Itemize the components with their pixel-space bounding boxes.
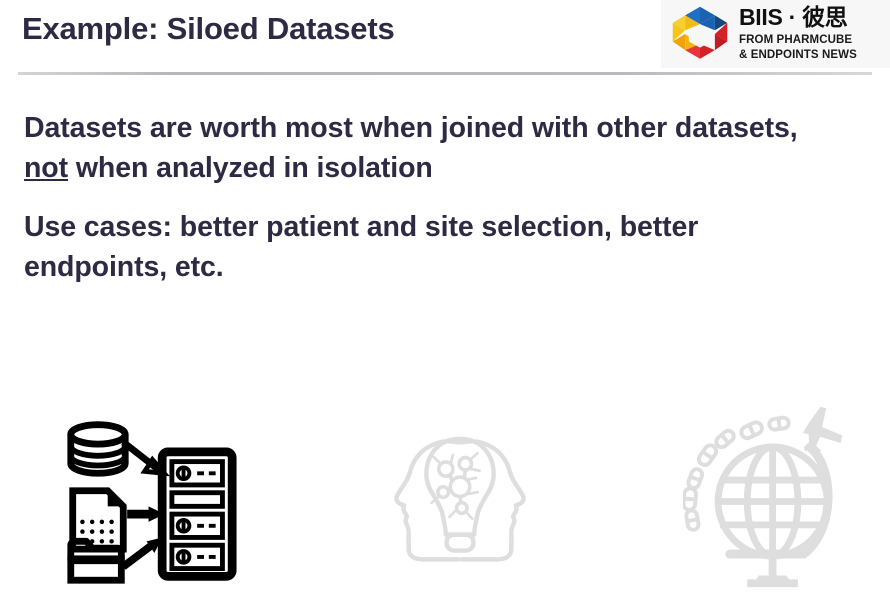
body-content: Datasets are worth most when joined with… xyxy=(24,108,844,288)
brand-logo-text: BIIS · 彼思 FROM PHARMCUBE & ENDPOINTS NEW… xyxy=(739,6,857,62)
bullet-value-of-joined-data: Datasets are worth most when joined with… xyxy=(24,108,844,189)
global-globe-pills-airplane-icon xyxy=(683,406,868,596)
bullet-1-text-after: when analyzed in isolation xyxy=(68,152,433,184)
brand-tagline: FROM PHARMCUBE & ENDPOINTS NEWS xyxy=(739,33,857,62)
bullet-1-emphasis: not xyxy=(24,152,68,184)
airplane-icon xyxy=(799,406,847,458)
server-rack-icon xyxy=(162,452,232,576)
two-heads-lightbulb-idea-icon xyxy=(380,423,540,578)
lightbulb-icon xyxy=(426,439,493,535)
brand-name: BIIS · 彼思 xyxy=(739,6,857,29)
bullet-1-text-before: Datasets are worth most when joined with… xyxy=(24,112,798,144)
data-sources-to-server-icon xyxy=(63,413,238,588)
biis-hexagon-cube-logo-icon xyxy=(669,3,731,65)
illustration-row xyxy=(0,400,890,601)
page-title: Example: Siloed Datasets xyxy=(22,10,395,47)
brand-logo: BIIS · 彼思 FROM PHARMCUBE & ENDPOINTS NEW… xyxy=(661,0,890,68)
database-cylinder-icon xyxy=(70,425,124,474)
brand-tagline-line-2: & ENDPOINTS NEWS xyxy=(739,48,857,62)
slide-canvas: Example: Siloed Datasets xyxy=(0,0,890,601)
bullet-use-cases: Use cases: better patient and site selec… xyxy=(24,207,844,288)
title-divider xyxy=(18,72,872,75)
icon-slot-data-integration xyxy=(40,400,260,601)
bullet-2-text: Use cases: better patient and site selec… xyxy=(24,211,698,283)
brand-tagline-line-1: FROM PHARMCUBE xyxy=(739,33,857,47)
icon-slot-shared-insight xyxy=(350,400,570,601)
icon-slot-global-reach xyxy=(660,400,890,601)
lightbulb-base-icon xyxy=(447,535,474,551)
